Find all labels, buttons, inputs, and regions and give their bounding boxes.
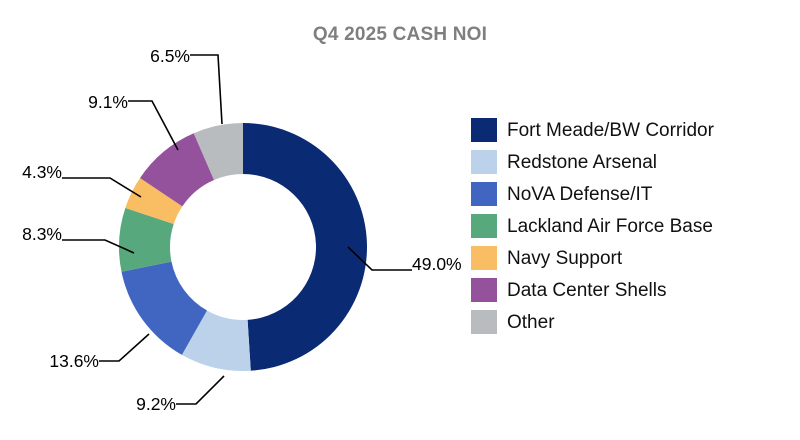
slice-percent-label: 4.3% <box>22 162 62 182</box>
legend-item-label: Navy Support <box>507 249 622 268</box>
legend-swatch-icon <box>471 310 497 334</box>
legend-item[interactable]: Other <box>471 306 791 338</box>
legend-item-label: Lackland Air Force Base <box>507 217 713 236</box>
leader-line <box>62 178 141 197</box>
legend-swatch-icon <box>471 150 497 174</box>
slice-percent-label: 9.2% <box>136 394 176 414</box>
legend-item[interactable]: Data Center Shells <box>471 274 791 306</box>
legend-swatch-icon <box>471 182 497 206</box>
legend-item[interactable]: Navy Support <box>471 242 791 274</box>
legend-item[interactable]: Fort Meade/BW Corridor <box>471 114 791 146</box>
donut-slices <box>119 123 367 371</box>
legend-item-label: NoVA Defense/IT <box>507 185 652 204</box>
legend-item[interactable]: Lackland Air Force Base <box>471 210 791 242</box>
legend-item-label: Redstone Arsenal <box>507 153 657 172</box>
leader-line <box>176 376 224 404</box>
legend-swatch-icon <box>471 214 497 238</box>
chart-legend: Fort Meade/BW CorridorRedstone ArsenalNo… <box>471 114 791 338</box>
slice-percent-label: 8.3% <box>22 224 62 244</box>
legend-swatch-icon <box>471 278 497 302</box>
slice-percent-label: 13.6% <box>49 351 99 371</box>
legend-item-label: Data Center Shells <box>507 281 666 300</box>
legend-swatch-icon <box>471 118 497 142</box>
slice-percent-label: 9.1% <box>88 92 128 112</box>
leader-line <box>99 334 149 361</box>
legend-swatch-icon <box>471 246 497 270</box>
legend-item-label: Fort Meade/BW Corridor <box>507 121 714 140</box>
slice-percent-label: 49.0% <box>412 254 462 274</box>
legend-item[interactable]: NoVA Defense/IT <box>471 178 791 210</box>
leader-line <box>190 55 222 124</box>
legend-item-label: Other <box>507 313 555 332</box>
leader-line <box>128 101 178 150</box>
legend-item[interactable]: Redstone Arsenal <box>471 146 791 178</box>
slice-percent-label: 6.5% <box>150 46 190 66</box>
chart-canvas: Q4 2025 CASH NOI 49.0%9.2%13.6%8.3%4.3%9… <box>0 0 800 440</box>
